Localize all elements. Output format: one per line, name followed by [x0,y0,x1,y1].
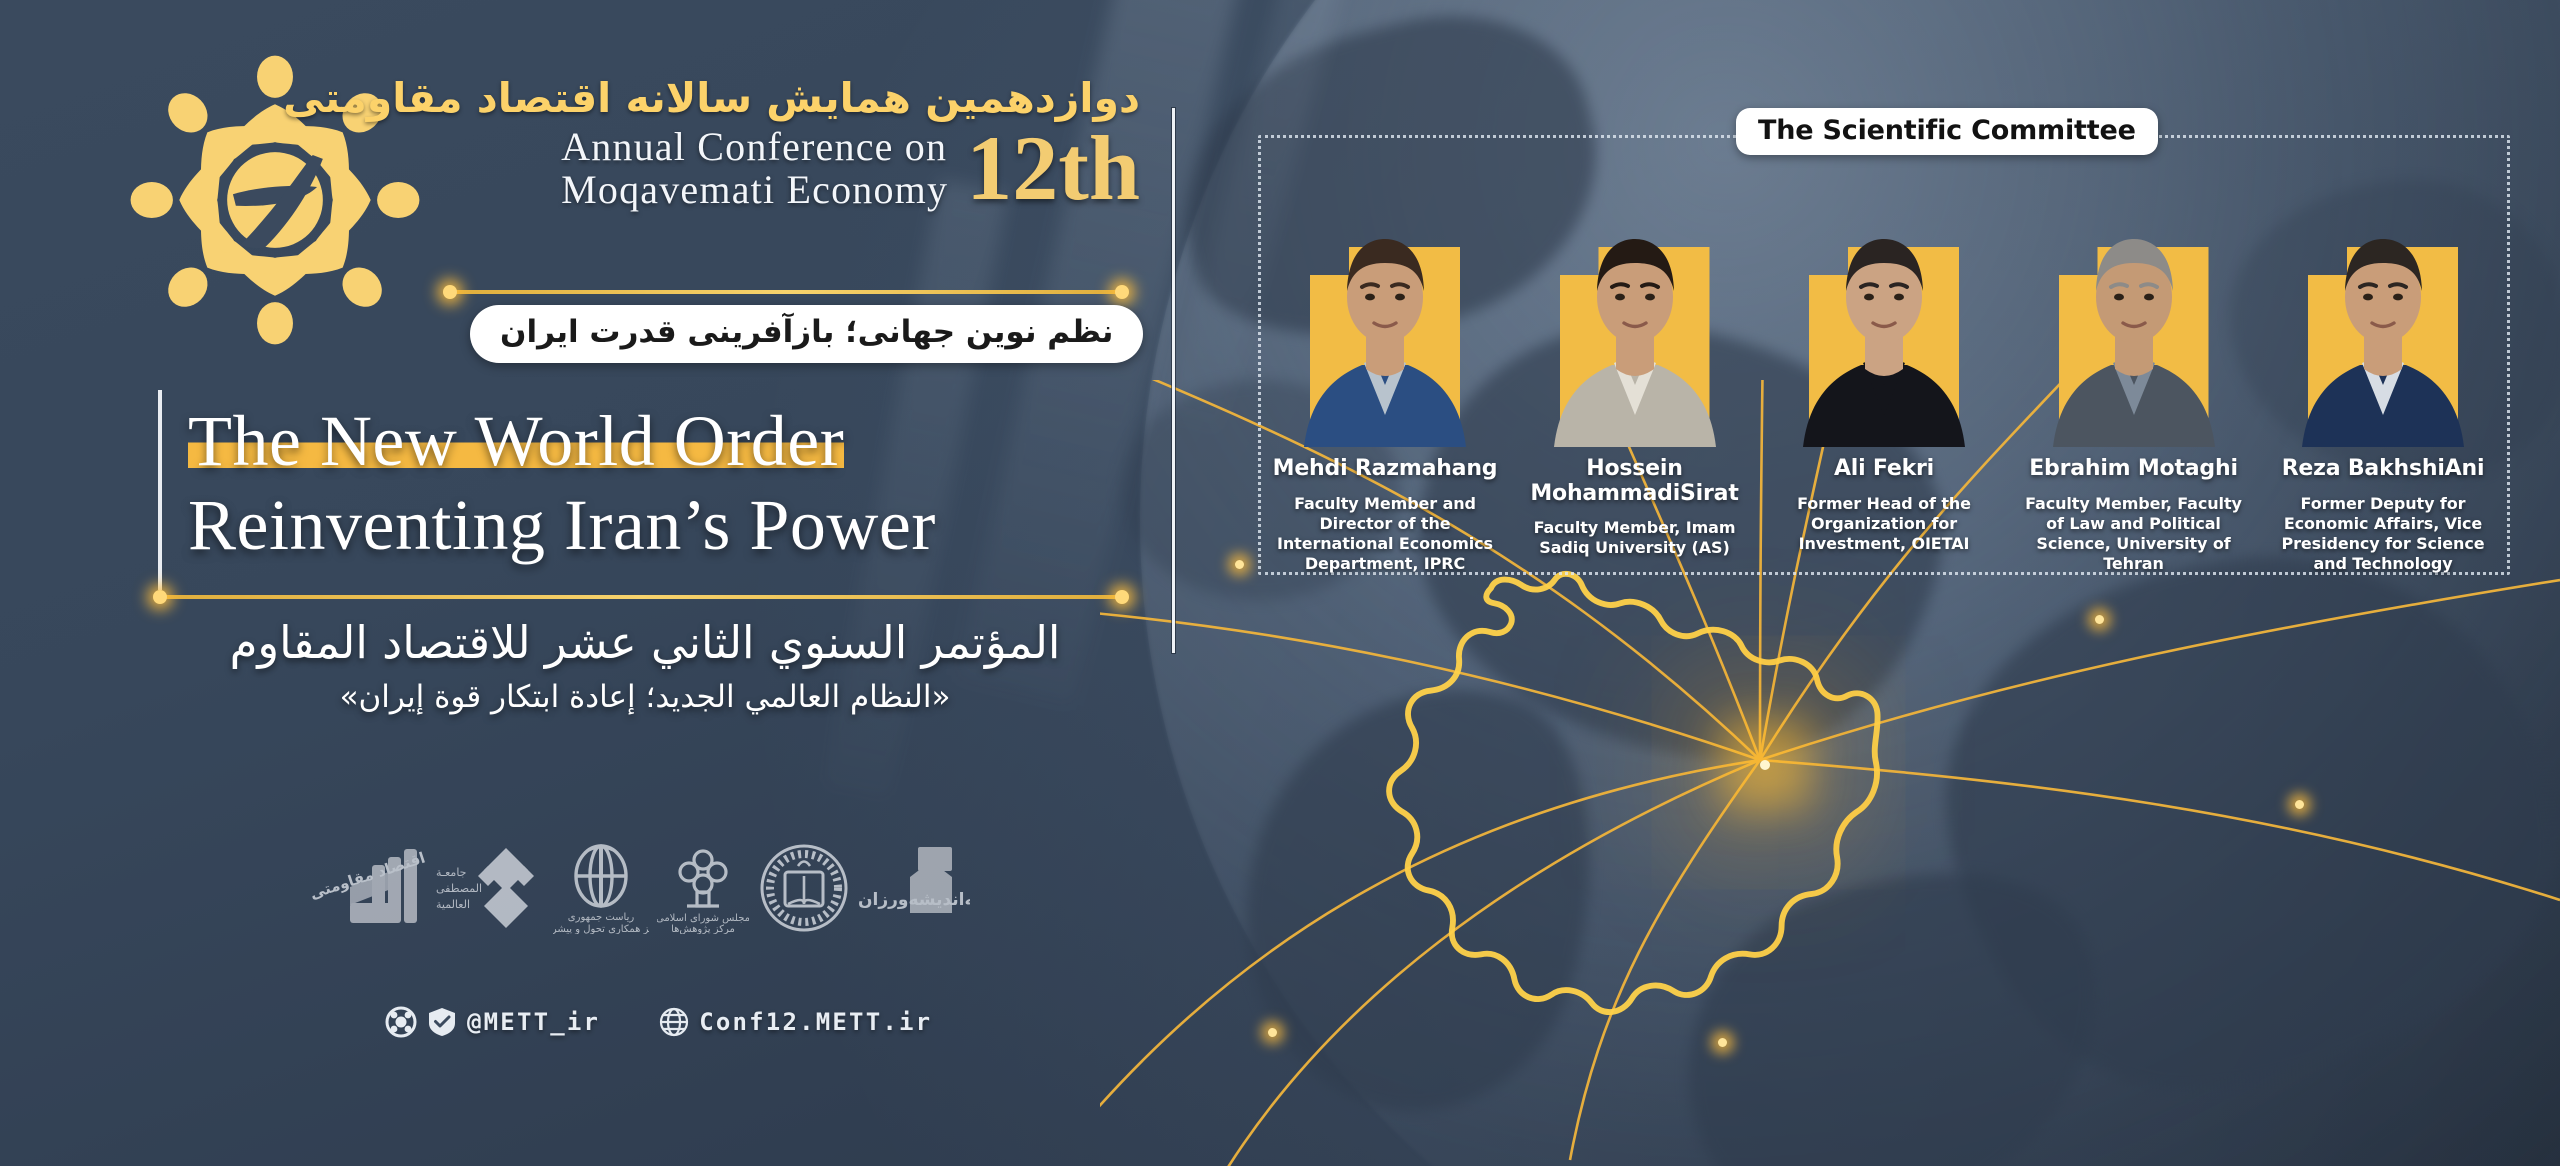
sponsor-logo-moqavemati-economy-school: اقتصاد مقاومتی [310,843,428,933]
member-role: Faculty Member and Director of the Inter… [1270,494,1500,575]
main-title-line2: Reinventing Iran’s Power [188,484,1128,568]
network-node [2295,800,2304,809]
gold-divider-bottom [160,595,1122,599]
committee-member: Ali Fekri Former Head of the Organizatio… [1769,185,1999,554]
member-photo [1304,209,1466,447]
svg-text:جامعـة: جامعـة [436,866,466,879]
member-photo [1554,209,1716,447]
committee-member: Hossein MohammadiSirat Faculty Member, I… [1520,185,1750,559]
svg-text:مرکز پژوهش‌ها: مرکز پژوهش‌ها [671,924,735,934]
member-name: Ebrahim Motaghi [2029,457,2238,482]
member-portrait [1791,185,1977,447]
network-node [1718,1038,1727,1047]
english-headline-line2: Moqavemati Economy [561,169,948,211]
globe-website-icon[interactable] [658,1006,690,1038]
iran-map-outline [1389,574,1878,1012]
title-accent-bar [158,390,162,590]
member-portrait [1292,185,1478,447]
aparat-icon[interactable] [385,1006,417,1038]
member-portrait [1542,185,1728,447]
arabic-subtitle-line1: المؤتمر السنوي الثاني عشر للاقتصاد المقا… [170,615,1120,671]
website-url-text[interactable]: Conf12.METT.ir [699,1008,932,1036]
bale-messenger-icon[interactable] [426,1006,458,1038]
sponsor-logo-khane-andisheh-varzan: خانه‌اندیشه‌ورزان [858,843,970,933]
member-portrait [2041,185,2227,447]
member-role: Former Deputy for Economic Affairs, Vice… [2268,494,2498,575]
sponsor-logo-strip: اقتصاد مقاومتی جامعـة المصطفى العالمية [310,825,970,950]
edition-ordinal: 12th [966,125,1140,212]
gold-divider-top [450,290,1122,294]
committee-member: Ebrahim Motaghi Faculty Member, Faculty … [2019,185,2249,574]
member-name: Reza BakhshiAni [2282,457,2485,482]
sponsor-logo-islamic-parliament-research-center: مجلس شورای اسلامی مرکز پژوهش‌ها [657,842,749,934]
arabic-subtitle-line2: «النظام العالمي الجديد؛ إعادة ابتكار قوة… [170,679,1120,715]
panel-divider [1172,108,1175,653]
member-name: Mehdi Razmahang [1273,457,1498,482]
persian-theme-pill: نظم نوین جهانی؛ بازآفرینی قدرت ایران [470,305,1143,363]
social-handle-text[interactable]: @METT_ir [467,1008,600,1036]
persian-headline: دوازدهمین همایش سالانه اقتصاد مقاومتی [440,78,1140,119]
arabic-subtitle: المؤتمر السنوي الثاني عشر للاقتصاد المقا… [170,615,1120,715]
member-name: Ali Fekri [1834,457,1934,482]
svg-text:المصطفى: المصطفى [436,882,482,895]
main-title: The New World Order Reinventing Iran’s P… [188,400,1128,567]
network-node [1268,1028,1277,1037]
committee-member: Mehdi Razmahang Faculty Member and Direc… [1270,185,1500,574]
committee-members-list: Mehdi Razmahang Faculty Member and Direc… [1258,185,2510,574]
continent-shape [1197,641,1642,1148]
main-title-line1: The New World Order [188,401,844,481]
member-photo [2053,209,2215,447]
svg-text:مجلس شورای اسلامی: مجلس شورای اسلامی [657,913,749,924]
member-role: Faculty Member, Faculty of Law and Polit… [2019,494,2249,575]
member-role: Former Head of the Organization for Inve… [1769,494,1999,554]
social-handle-group[interactable]: @METT_ir [385,1006,600,1038]
website-group[interactable]: Conf12.METT.ir [658,1006,932,1038]
conference-banner: دوازدهمین همایش سالانه اقتصاد مقاومتی An… [0,0,2560,1166]
contact-row: @METT_ir Conf12.METT.ir [385,1000,932,1044]
conference-headline: دوازدهمین همایش سالانه اقتصاد مقاومتی An… [440,78,1140,212]
network-node [2095,615,2104,624]
member-photo [1803,209,1965,447]
committee-member: Reza BakhshiAni Former Deputy for Econom… [2268,185,2498,574]
sponsor-logo-al-mustafa-university: جامعـة المصطفى العالمية [436,842,544,934]
tehran-hub-glow [1760,760,1770,770]
continent-shape [1917,521,2560,1119]
member-role: Faculty Member, Imam Sadiq University (A… [1520,518,1750,558]
network-node [1235,560,1244,569]
member-photo [2302,209,2464,447]
committee-title: The Scientific Committee [1736,108,2158,155]
continent-shape [1637,816,2154,1166]
svg-text:خانه‌اندیشه‌ورزان: خانه‌اندیشه‌ورزان [858,890,970,910]
svg-text:مرکز همکاری تحول و پیشرفت: مرکز همکاری تحول و پیشرفت [553,924,649,934]
english-headline-line1: Annual Conference on [561,126,948,168]
member-portrait [2290,185,2476,447]
svg-text:العالمية: العالمية [436,898,470,911]
sponsor-logo-presidency-cooperation-center: ریاست جمهوری مرکز همکاری تحول و پیشرفت [553,842,649,934]
member-name: Hossein MohammadiSirat [1520,457,1750,506]
svg-text:ریاست جمهوری: ریاست جمهوری [568,912,635,923]
sponsor-logo-islamic-sciences-university [758,842,850,934]
